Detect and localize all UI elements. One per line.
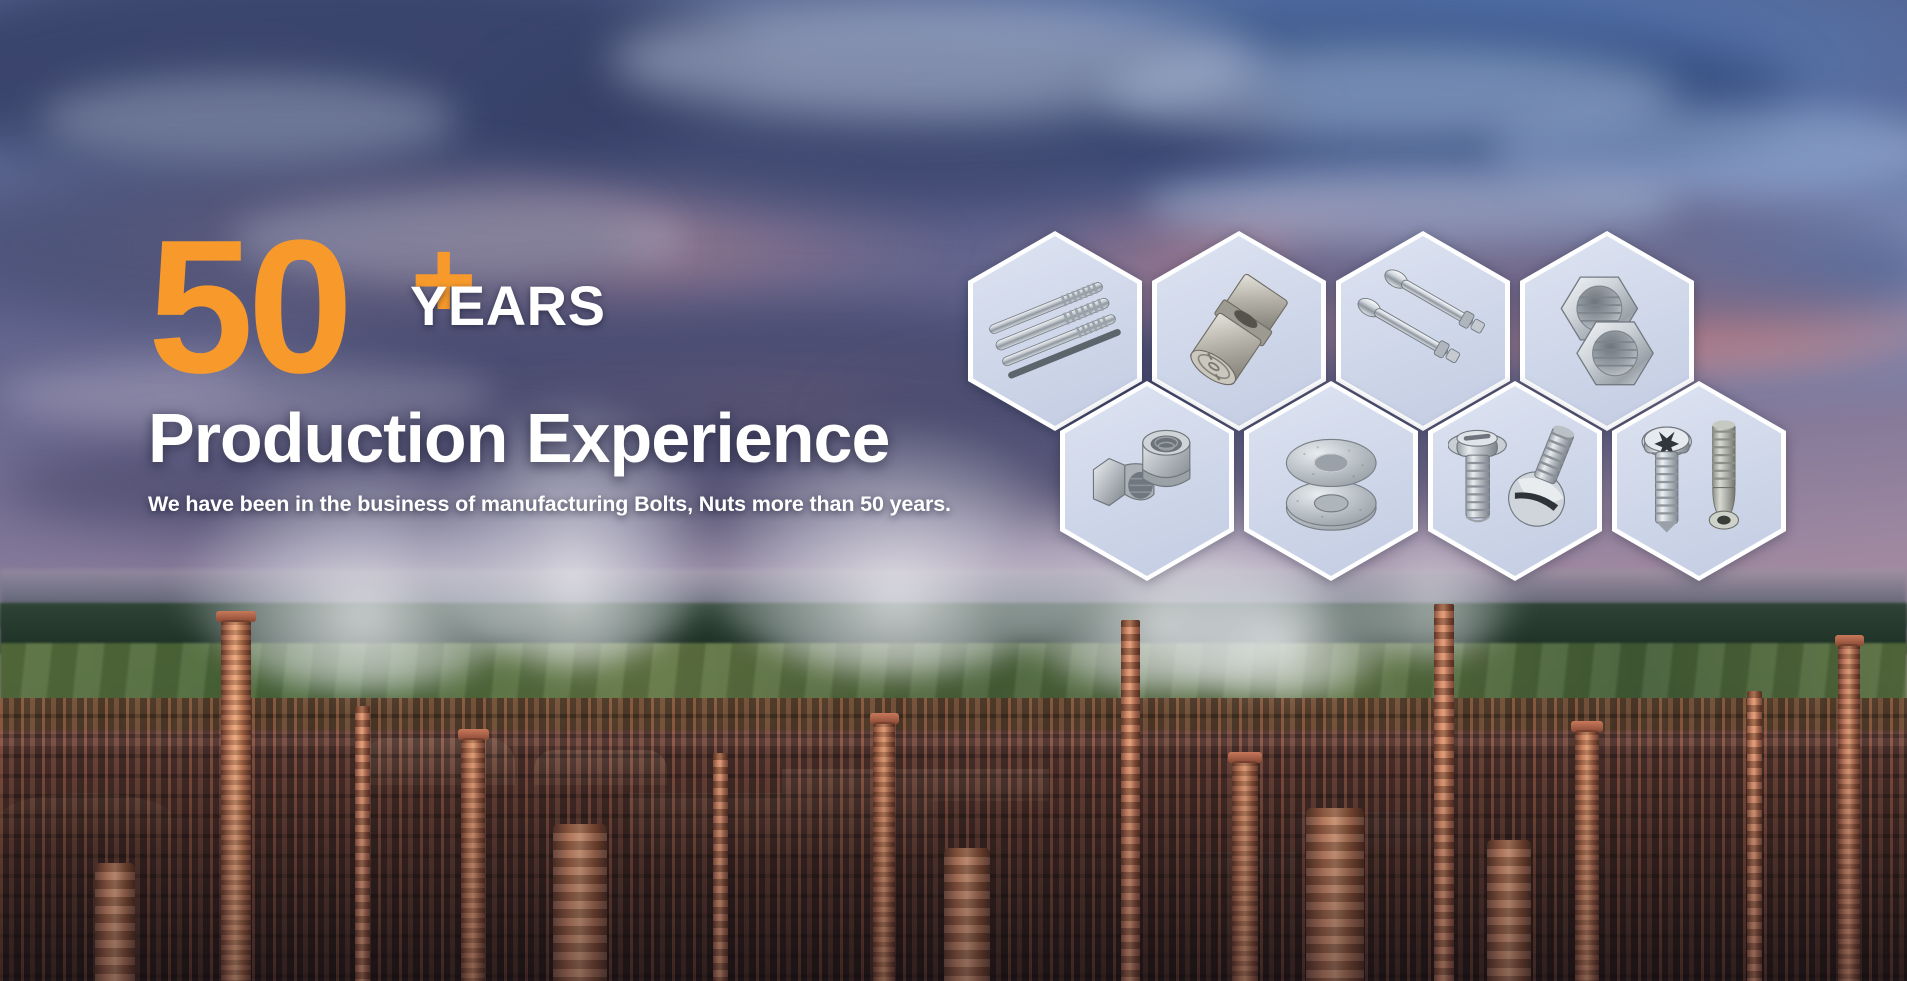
machine-screw-icon: [1448, 403, 1582, 559]
years-unit-label: YEARS: [410, 278, 605, 334]
refinery-foreground: [0, 589, 1907, 981]
product-hex-lock-nuts[interactable]: [1060, 381, 1234, 581]
lock-nut-icon: [1080, 403, 1214, 559]
years-badge: 50 + YEARS: [148, 226, 908, 376]
phillips-screw-icon: [1632, 403, 1766, 559]
cloud-wisp: [38, 75, 458, 164]
product-hex-phillips-screws[interactable]: [1612, 381, 1786, 581]
hero-copy: 50 + YEARS Production Experience We have…: [148, 226, 908, 519]
hero-banner: 50 + YEARS Production Experience We have…: [0, 0, 1907, 981]
foreground-haze: [0, 589, 1907, 981]
page-subtitle: We have been in the business of manufact…: [148, 491, 908, 519]
years-number: 50: [148, 212, 347, 402]
washer-icon: [1264, 403, 1398, 559]
product-hex-washers[interactable]: [1244, 381, 1418, 581]
product-hex-machine-screws[interactable]: [1428, 381, 1602, 581]
